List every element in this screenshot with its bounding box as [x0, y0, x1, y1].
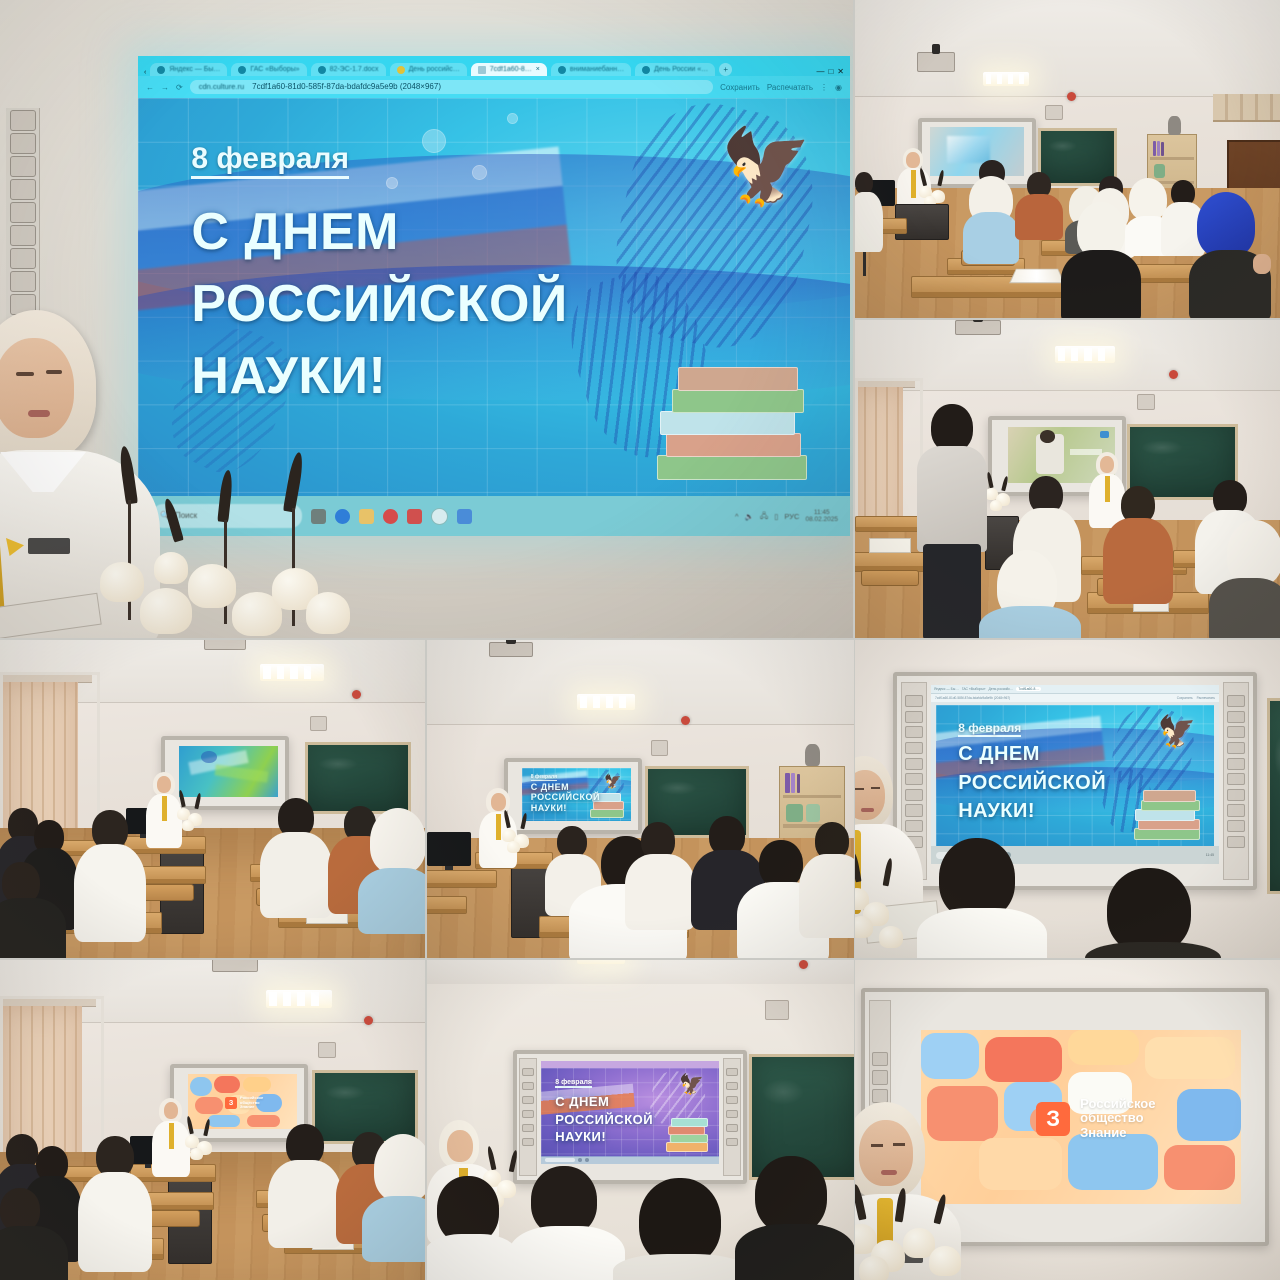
znanie-logo-mark: З [225, 1097, 237, 1109]
flower-arrangement [184, 1116, 216, 1166]
network-icon[interactable]: 🖧 [760, 510, 768, 523]
smoke-detector-icon [364, 1016, 373, 1025]
wall-speaker [1137, 394, 1155, 410]
student [917, 838, 1041, 958]
open-book [1009, 269, 1065, 283]
arrow-left-icon[interactable] [10, 271, 36, 292]
science-day-slide: 🦅 8 февраля С ДНЕМ РОССИЙСКОЙ НАУКИ! [138, 98, 850, 496]
print-button[interactable]: Распечатать [1197, 696, 1215, 700]
student [981, 550, 1073, 638]
clock-time: 11:45 [1206, 853, 1214, 857]
ceiling-light [1055, 346, 1115, 363]
slide-date: 8 февраля [958, 721, 1021, 737]
chalkboard [1267, 698, 1280, 894]
slide-heading-2: РОССИЙСКОЙ [958, 773, 1106, 794]
panel-presenter-znanie-slide: З Российское общество Знание Цикл лекций… [855, 960, 1280, 1280]
student [1191, 192, 1265, 318]
ceiling-projector-icon [204, 640, 246, 650]
tab-scroll-left-icon[interactable]: ‹ [144, 69, 146, 76]
slide-heading-1: С ДНЕМ [531, 783, 569, 792]
slide-heading-2: РОССИЙСКОЙ [555, 1113, 653, 1127]
student [1017, 172, 1061, 238]
student [1213, 520, 1280, 638]
student [1063, 202, 1135, 318]
explorer-icon[interactable] [359, 509, 374, 524]
student [509, 1166, 619, 1280]
close-icon[interactable] [10, 202, 36, 223]
print-button[interactable]: Распечатать [767, 83, 813, 92]
save-button[interactable]: Сохранить [720, 83, 760, 92]
standing-student [917, 404, 987, 638]
browser-tab-active[interactable]: 7cdf1a60-8…× [471, 63, 547, 76]
panel-whiteboard-closeup-science-slide: Яндекс — Бы… ГАС «Выборы» День российс… … [855, 640, 1280, 958]
opera-icon[interactable] [383, 509, 398, 524]
system-tray[interactable]: ^ 🔈 🖧 ▯ РУС 11:45 08.02.2025 [735, 509, 838, 524]
tab-label: ГАС «Выборы» [962, 687, 986, 691]
slide-date: 8 февраля [531, 774, 557, 781]
interactive-whiteboard[interactable]: 🦅 8 февраля С ДНЕМ РОССИЙСКОЙ НАУКИ! [513, 1050, 747, 1184]
save-icon[interactable] [10, 225, 36, 246]
znanie-line-3: Знание [240, 1105, 263, 1110]
znanie-line-3: Знание [1080, 1126, 1155, 1141]
ceiling-projector-icon [955, 320, 1001, 335]
browser-tab[interactable]: вниманиебанн… [551, 63, 631, 76]
battery-icon[interactable]: ▯ [774, 512, 778, 521]
window-close-button[interactable]: ✕ [837, 67, 844, 76]
wall-speaker [651, 740, 668, 756]
camera-icon[interactable] [10, 133, 36, 154]
chair [861, 570, 919, 586]
ceiling-light [266, 990, 332, 1008]
back-icon[interactable]: ← [146, 83, 154, 92]
browser-tab[interactable]: Яндекс — Бы… [150, 63, 227, 76]
wall-speaker [318, 1042, 336, 1058]
stacked-books-icon [657, 364, 807, 480]
panel-classroom-znanie-slide: З Российское общество Знание [0, 960, 425, 1280]
decorative-vase [805, 744, 820, 766]
slide-date: 8 февраля [191, 142, 349, 179]
url-host: cdn.culture.ru [199, 82, 244, 91]
tab-label: 82-ЭС-1.7.docx [330, 66, 379, 73]
panel-presenter-with-projected-slide: ‹ Яндекс — Бы… ГАС «Выборы» 82-ЭС-1.7.do… [0, 0, 853, 638]
stacked-books-icon [1134, 790, 1200, 840]
tab-label: вниманиебанн… [570, 66, 624, 73]
ceiling-projector-icon [917, 52, 955, 72]
slide-heading-2: РОССИЙСКОЙ [531, 793, 600, 802]
tab-label: Яндекс — Бы… [934, 687, 959, 691]
smoke-detector-icon [352, 690, 361, 699]
flower-arrangement [985, 472, 1013, 516]
clock-date: 08.02.2025 [805, 516, 838, 523]
ceiling-projector-icon [212, 960, 258, 972]
tab-label: День российс… [409, 66, 460, 73]
save-button[interactable]: Сохранить [1177, 696, 1193, 700]
slide-heading-3: НАУКИ! [555, 1130, 606, 1144]
smoke-detector-icon [1169, 370, 1178, 379]
browser-tab-strip[interactable]: ‹ Яндекс — Бы… ГАС «Выборы» 82-ЭС-1.7.do… [138, 56, 850, 76]
student [427, 1176, 515, 1280]
slide-heading-1: С ДНЕМ [191, 205, 399, 259]
flower-arrangement [176, 790, 206, 838]
ceiling-projector-icon [489, 642, 533, 657]
flower-arrangement [855, 852, 911, 958]
student [268, 1124, 340, 1244]
new-tab-button[interactable]: + [719, 63, 732, 76]
window-maximize-button[interactable]: □ [828, 67, 833, 76]
panel-classroom-wide-students-back [855, 0, 1280, 318]
yandex-icon[interactable] [431, 508, 448, 525]
volume-icon[interactable]: 🔈 [745, 512, 754, 521]
smoke-detector-icon [681, 716, 690, 725]
slide-heading-3: НАУКИ! [531, 804, 567, 813]
decorative-vase [1168, 116, 1181, 135]
keyboard-icon[interactable] [10, 179, 36, 200]
student [76, 810, 142, 938]
window-minimize-button[interactable]: — [816, 67, 824, 76]
flower-arrangement [501, 810, 533, 858]
browser-tab[interactable]: День российс… [390, 63, 467, 76]
russian-coat-of-arms-icon: 🦅 [720, 130, 800, 226]
profile-avatar[interactable]: ◉ [835, 83, 842, 92]
forward-icon[interactable]: → [161, 83, 169, 92]
open-book [869, 538, 911, 553]
student [260, 798, 330, 914]
badge [28, 538, 70, 554]
photo-collage: ‹ Яндекс — Бы… ГАС «Выборы» 82-ЭС-1.7.do… [0, 0, 1280, 1280]
whiteboard-icon[interactable] [10, 156, 36, 177]
russian-coat-of-arms-icon: 🦅 [679, 1075, 701, 1101]
smoke-detector-icon [799, 960, 808, 969]
whiteboard-toolbar[interactable] [6, 108, 40, 320]
taskbar-clock[interactable]: 11:45 08.02.2025 [805, 509, 838, 524]
browser-tab[interactable]: ГАС «Выборы» [231, 63, 306, 76]
student [965, 160, 1017, 252]
ceiling-light [577, 694, 635, 710]
browser-tab[interactable]: День России «… [635, 63, 715, 76]
url-path: 7cdf1a60-81d0-585f-87da-bdafdc9a5e9b (20… [252, 82, 441, 91]
teacher [154, 1098, 188, 1174]
student [364, 1134, 425, 1258]
slide-heading-3: НАУКИ! [191, 349, 386, 403]
student [625, 822, 691, 926]
projected-znanie-slide: З Российское общество Знание Цикл лекций… [921, 1030, 1241, 1204]
flower-arrangement [92, 440, 352, 638]
panel-classroom-window-side [0, 640, 425, 958]
tab-label: ГАС «Выборы» [250, 66, 299, 73]
znanie-line-2: общество [1080, 1111, 1155, 1126]
language-indicator[interactable]: РУС [784, 512, 799, 521]
url-path: 7cdf1a60-81d0-585f-87da-bdafdc9a5e9b (20… [935, 696, 1010, 700]
panel-students-facing-board: 🦅 8 февраля С ДНЕМ РОССИЙСКОЙ НАУКИ! [427, 960, 854, 1280]
reload-icon[interactable]: ⟳ [176, 83, 183, 92]
wall-speaker [1045, 105, 1063, 120]
student [799, 822, 854, 934]
student [735, 1156, 847, 1280]
clock-time: 11:45 [805, 509, 838, 516]
tab-label: Яндекс — Бы… [169, 66, 220, 73]
slide-heading-3: НАУКИ! [958, 801, 1035, 822]
tab-label-active: 7cdf1a60-8… [1016, 687, 1040, 691]
projected-science-slide-purple: 🦅 8 февраля С ДНЕМ РОССИЙСКОЙ НАУКИ! [541, 1061, 719, 1164]
student [0, 1188, 64, 1280]
student-desk [427, 896, 467, 914]
tab-label: День российс… [989, 687, 1014, 691]
ceiling-light [577, 960, 625, 964]
face [0, 338, 74, 438]
student [1085, 868, 1215, 958]
russian-coat-of-arms-icon: 🦅 [1158, 716, 1192, 756]
student [360, 808, 425, 930]
student [613, 1178, 743, 1280]
znanie-logo: З Российское общество Знание [1036, 1093, 1202, 1145]
menu-icon[interactable]: ⋮ [820, 83, 828, 92]
browser-address-bar[interactable]: ← → ⟳ cdn.culture.ru 7cdf1a60-81d0-585f-… [138, 76, 850, 98]
power-icon[interactable] [10, 110, 36, 131]
slide-date: 8 февраля [555, 1079, 592, 1088]
slide-heading-2: РОССИЙСКОЙ [191, 277, 567, 331]
panel-classroom-standing-student [855, 320, 1280, 638]
stacked-books-icon [666, 1120, 708, 1152]
student [80, 1136, 148, 1268]
tab-label: 7cdf1a60-8… [490, 66, 532, 73]
ceiling-light [983, 72, 1029, 86]
url-field[interactable]: cdn.culture.ru 7cdf1a60-81d0-585f-87da-b… [190, 80, 713, 95]
slide-heading-1: С ДНЕМ [555, 1095, 609, 1109]
panel-classroom-center-view: 🦅 8 февраля С ДНЕМ РОССИЙСКОЙ НАУКИ! [427, 640, 854, 958]
flower-arrangement [855, 1184, 971, 1280]
projected-science-slide: 🦅 8 февраля С ДНЕМ РОССИЙСКОЙ НАУКИ! [522, 768, 631, 821]
telegram-icon[interactable] [407, 509, 422, 524]
student [0, 862, 64, 958]
window-valance [1213, 94, 1280, 122]
browser-tab[interactable]: 82-ЭС-1.7.docx [311, 63, 386, 76]
smoke-detector-icon [1067, 92, 1076, 101]
show-hidden-icon[interactable]: ^ [735, 512, 739, 521]
settings-icon[interactable] [10, 248, 36, 269]
slide-heading-1: С ДНЕМ [958, 744, 1040, 765]
ceiling-light [260, 664, 324, 681]
wall-speaker [310, 716, 327, 731]
student [855, 172, 881, 252]
monitor [427, 832, 471, 866]
word-icon[interactable] [457, 509, 472, 524]
wall-speaker [765, 1000, 789, 1020]
tab-label: День России «… [654, 66, 708, 73]
student [1103, 486, 1171, 602]
student-desk [427, 870, 497, 888]
znanie-logo-mark: З [1036, 1102, 1070, 1136]
